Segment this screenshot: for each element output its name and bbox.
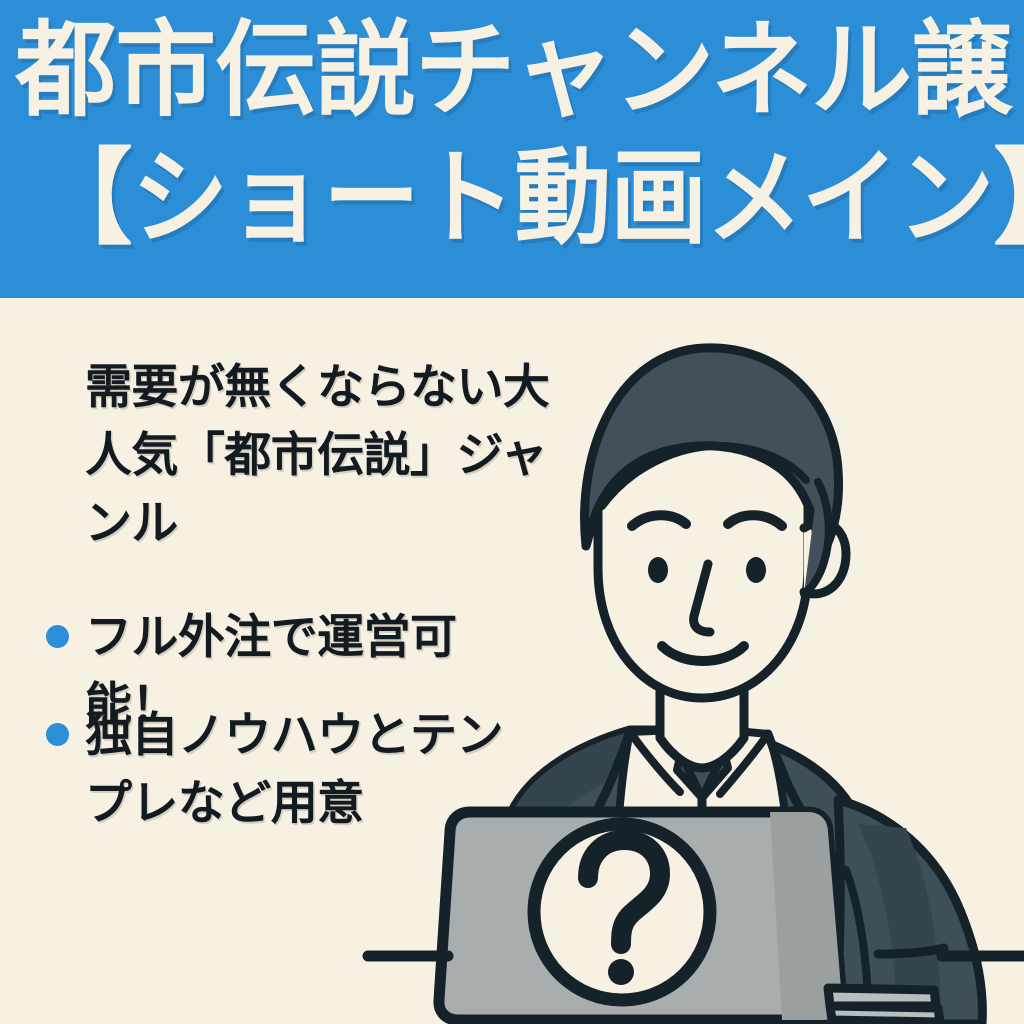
header-title-line-2: 【ショート動画メイン】 [36,136,988,260]
header-banner: 都市伝説チャンネル譲 【ショート動画メイン】 [0,0,1024,298]
poster-canvas: 都市伝説チャンネル譲 【ショート動画メイン】 需要が無くならない大人気「都市伝説… [0,0,1024,1024]
bullet-dot-icon [46,625,69,648]
businessman-at-laptop-illustration [330,300,1024,1024]
header-title-line-1: 都市伝説チャンネル譲 [15,8,1008,132]
bullet-dot-icon [46,723,69,746]
